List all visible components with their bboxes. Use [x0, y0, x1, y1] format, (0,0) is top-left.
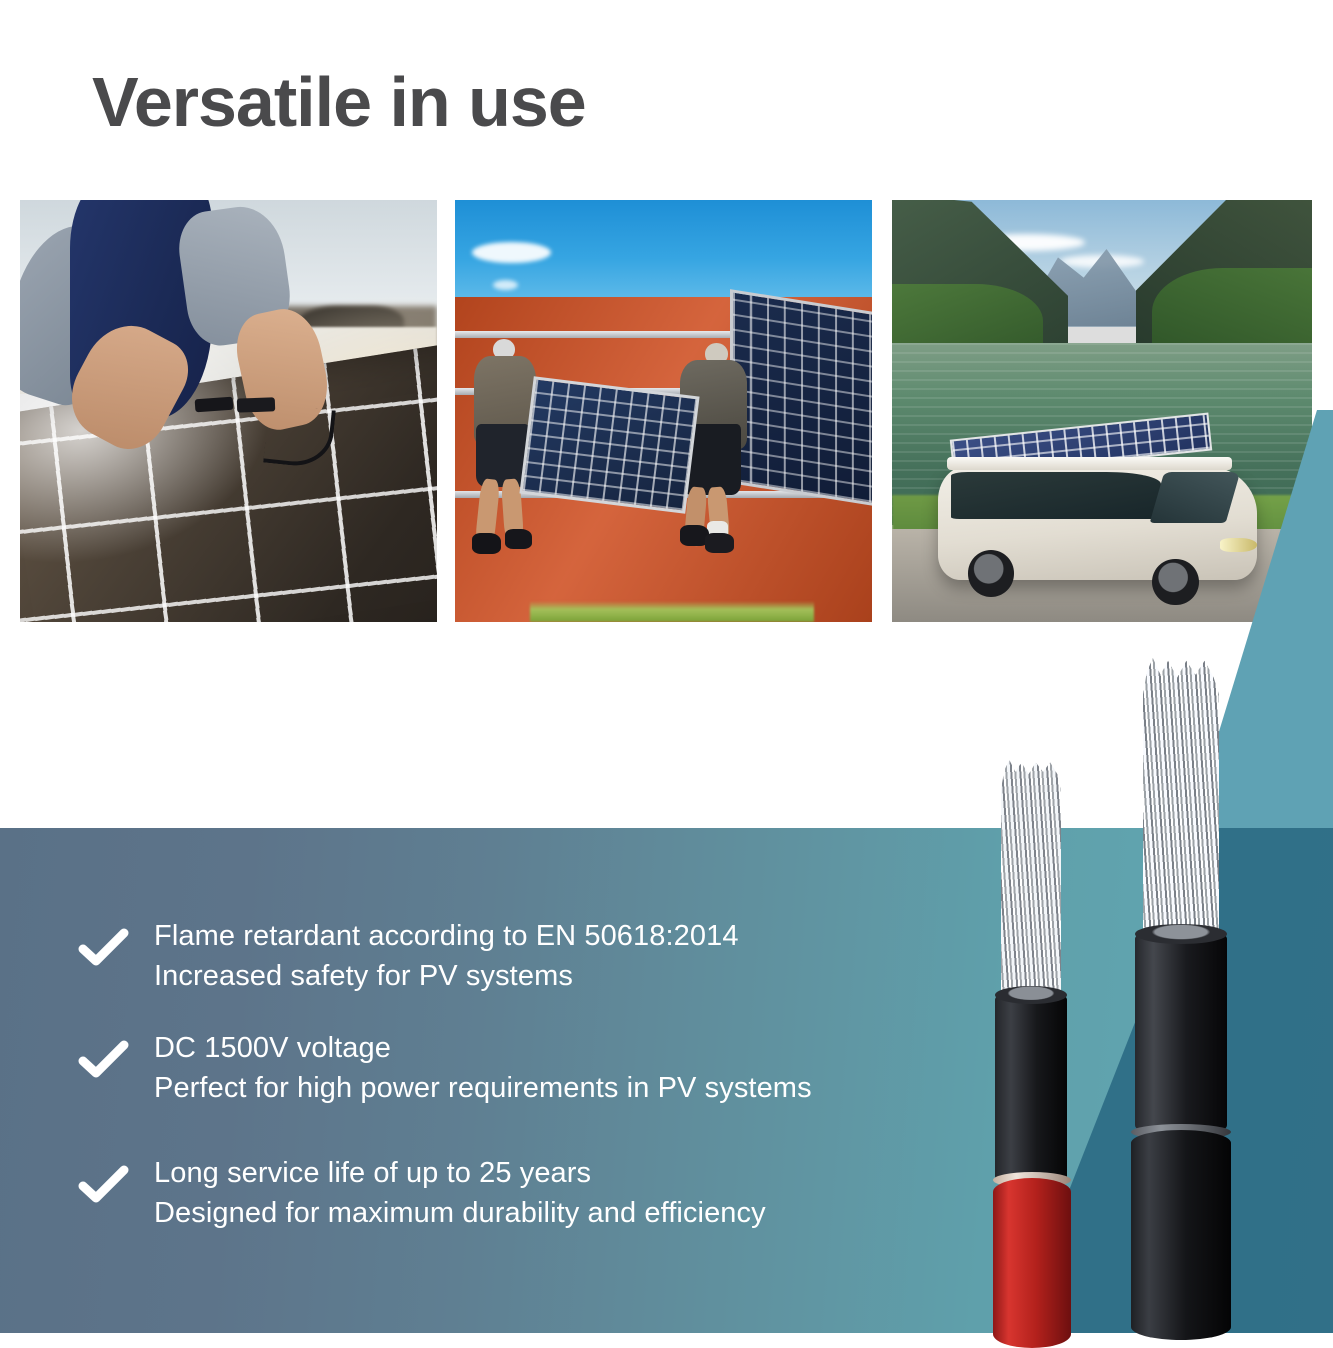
feature-subline: Increased safety for PV systems [154, 956, 739, 996]
check-icon [78, 1028, 130, 1080]
image-gallery [0, 200, 1333, 622]
image-roof-installation [455, 200, 872, 622]
image-camper-van-lake [892, 200, 1312, 622]
image-solar-panel-connector [20, 200, 437, 622]
page-title: Versatile in use [92, 64, 586, 141]
feature-item-1: Flame retardant according to EN 50618:20… [78, 916, 739, 996]
feature-item-2: DC 1500V voltage Perfect for high power … [78, 1028, 812, 1108]
feature-item-3: Long service life of up to 25 years Desi… [78, 1153, 766, 1233]
dark-diagonal-accent [1013, 828, 1333, 1333]
feature-subline: Designed for maximum durability and effi… [154, 1193, 766, 1233]
feature-subline: Perfect for high power requirements in P… [154, 1068, 812, 1108]
check-icon [78, 1153, 130, 1205]
feature-headline: Flame retardant according to EN 50618:20… [154, 916, 739, 956]
feature-headline: DC 1500V voltage [154, 1028, 812, 1068]
check-icon [78, 916, 130, 968]
feature-headline: Long service life of up to 25 years [154, 1153, 766, 1193]
